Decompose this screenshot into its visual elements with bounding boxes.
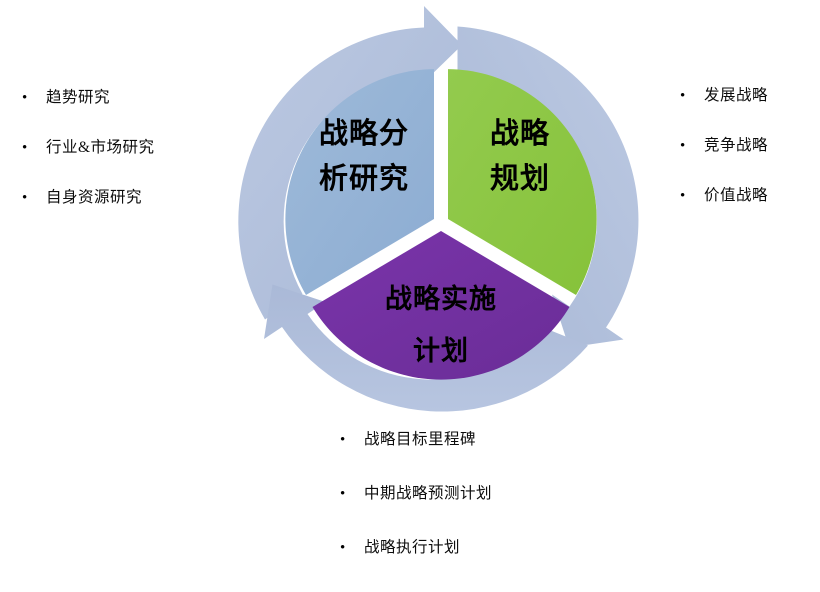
bullet-icon: •: [340, 484, 364, 504]
list-item: • 中期战略预测计划: [340, 484, 492, 504]
list-item: • 发展战略: [680, 86, 768, 106]
list-item-label: 战略目标里程碑: [364, 430, 476, 450]
bullet-icon: •: [340, 538, 364, 558]
list-item: • 行业&市场研究: [22, 138, 155, 158]
bullet-list-analysis: • 趋势研究 • 行业&市场研究 • 自身资源研究: [22, 88, 155, 208]
list-item: • 趋势研究: [22, 88, 155, 108]
list-item: • 价值战略: [680, 186, 768, 206]
list-item-label: 发展战略: [704, 86, 768, 106]
list-item: • 战略执行计划: [340, 538, 492, 558]
list-item-label: 自身资源研究: [46, 188, 142, 208]
bullet-icon: •: [22, 188, 46, 208]
list-item-label: 行业&市场研究: [46, 138, 155, 158]
bullet-icon: •: [680, 136, 704, 156]
list-item-label: 价值战略: [704, 186, 768, 206]
bullet-list-implementation: • 战略目标里程碑 • 中期战略预测计划 • 战略执行计划: [340, 430, 492, 592]
bullet-icon: •: [340, 430, 364, 450]
bullet-icon: •: [22, 88, 46, 108]
bullet-list-planning: • 发展战略 • 竞争战略 • 价值战略: [680, 86, 768, 206]
list-item-label: 趋势研究: [46, 88, 110, 108]
bullet-icon: •: [22, 138, 46, 158]
bullet-icon: •: [680, 86, 704, 106]
list-item: • 战略目标里程碑: [340, 430, 492, 450]
list-item: • 竞争战略: [680, 136, 768, 156]
bullet-icon: •: [680, 186, 704, 206]
list-item-label: 竞争战略: [704, 136, 768, 156]
list-item: • 自身资源研究: [22, 188, 155, 208]
list-item-label: 战略执行计划: [364, 538, 460, 558]
list-item-label: 中期战略预测计划: [364, 484, 492, 504]
